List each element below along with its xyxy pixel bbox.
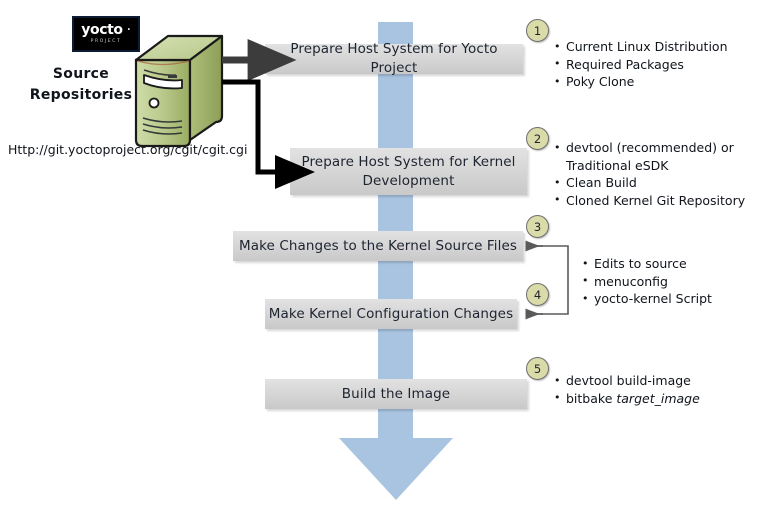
step-3-4-shared-bullets: Edits to source menuconfig yocto-kernel … bbox=[582, 255, 762, 308]
list-item: Cloned Kernel Git Repository bbox=[554, 192, 766, 210]
list-item: Edits to source bbox=[582, 255, 762, 273]
step-badge-5: 5 bbox=[526, 357, 549, 380]
source-label-line-2: Repositories bbox=[22, 85, 140, 106]
flow-box-make-kernel-config-changes[interactable]: Make Kernel Configuration Changes bbox=[265, 299, 517, 329]
list-item: menuconfig bbox=[582, 273, 762, 291]
flow-box-prepare-host-kernel[interactable]: Prepare Host System for Kernel Developme… bbox=[290, 148, 527, 195]
step-badge-1: 1 bbox=[526, 19, 549, 42]
flow-box-make-kernel-source-changes[interactable]: Make Changes to the Kernel Source Files bbox=[233, 231, 523, 261]
step-badge-4: 4 bbox=[526, 283, 549, 306]
logo-subtitle: PROJECT bbox=[91, 38, 122, 45]
source-repositories-label: Source Repositories bbox=[22, 64, 140, 106]
server-icon bbox=[132, 30, 224, 148]
list-item-continuation: Traditional eSDK bbox=[554, 157, 766, 175]
logo-dot: · bbox=[123, 22, 131, 38]
list-item: yocto-kernel Script bbox=[582, 290, 762, 308]
step-badge-2: 2 bbox=[526, 127, 549, 150]
list-item: bitbake target_image bbox=[554, 390, 754, 408]
logo-wordmark: yocto · bbox=[81, 23, 130, 37]
list-item: Clean Build bbox=[554, 174, 766, 192]
list-item: devtool (recommended) or bbox=[554, 139, 766, 157]
list-item: Current Linux Distribution bbox=[554, 38, 764, 56]
step-2-bullets: devtool (recommended) or Traditional eSD… bbox=[554, 139, 766, 209]
bitbake-target-placeholder: target_image bbox=[616, 391, 699, 406]
step-1-bullets: Current Linux Distribution Required Pack… bbox=[554, 38, 764, 91]
list-item: devtool build-image bbox=[554, 372, 754, 390]
step-5-bullets: devtool build-image bitbake target_image bbox=[554, 372, 754, 407]
yocto-project-logo: yocto · PROJECT bbox=[72, 16, 140, 52]
step-badge-3: 3 bbox=[526, 215, 549, 238]
source-label-line-1: Source bbox=[22, 64, 140, 85]
logo-word-text: yocto bbox=[81, 22, 122, 38]
connector-server-to-step2 bbox=[222, 82, 281, 172]
flow-box-build-the-image[interactable]: Build the Image bbox=[265, 379, 527, 409]
bitbake-command-prefix: bitbake bbox=[566, 391, 616, 406]
diagram-canvas: yocto · PROJECT Source Repositories Http… bbox=[0, 0, 769, 517]
list-item: Poky Clone bbox=[554, 73, 764, 91]
flow-box-prepare-host-yocto[interactable]: Prepare Host System for Yocto Project bbox=[265, 44, 523, 74]
list-item: Required Packages bbox=[554, 56, 764, 74]
main-flow-arrow-head bbox=[339, 438, 453, 500]
